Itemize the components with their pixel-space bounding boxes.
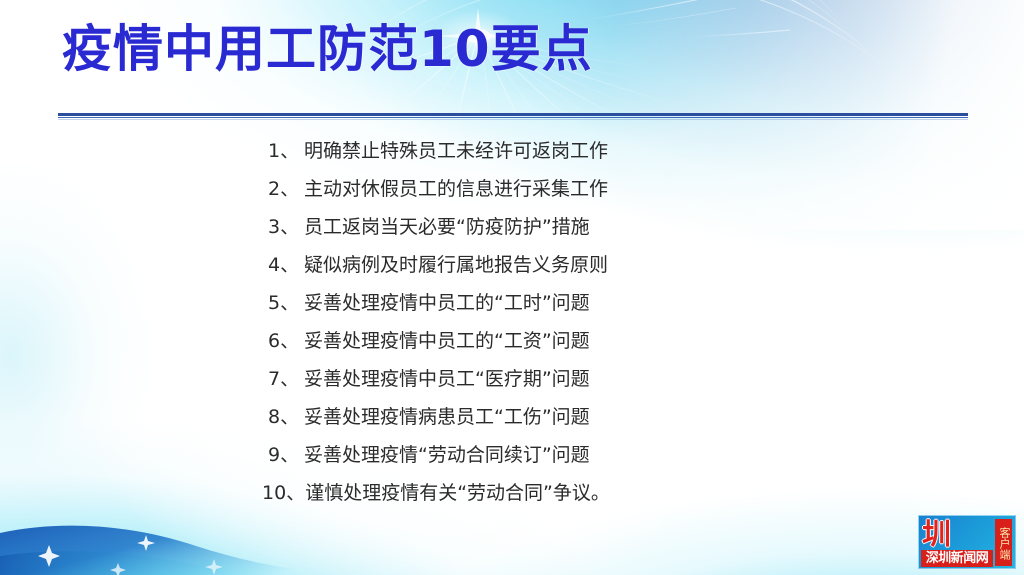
list-item: 5、 妥善处理疫情中员工的“工时”问题: [268, 288, 738, 326]
list-item-text: 妥善处理疫情“劳动合同续订”问题: [304, 440, 590, 467]
list-item-number: 3、: [268, 212, 304, 239]
list-item-number: 7、: [268, 364, 304, 391]
slide-canvas: 疫情中用工防范10要点 1、 明确禁止特殊员工未经许可返岗工作 2、 主动对休假…: [0, 0, 1024, 575]
list-item-text: 妥善处理疫情中员工的“工时”问题: [304, 288, 590, 315]
list-item-text: 妥善处理疫情中员工的“工资”问题: [304, 326, 590, 353]
title-divider: [58, 113, 968, 120]
list-item: 8、 妥善处理疫情病患员工“工伤”问题: [268, 402, 738, 440]
title-block: 疫情中用工防范10要点: [62, 22, 762, 77]
logo-side-label: 客户端: [995, 519, 1012, 566]
points-list: 1、 明确禁止特殊员工未经许可返岗工作 2、 主动对休假员工的信息进行采集工作 …: [268, 136, 738, 516]
divider-line-thin: [58, 117, 968, 118]
list-item-number: 1、: [268, 136, 304, 163]
logo-subtitle: 深圳新闻网: [921, 550, 993, 567]
list-item: 4、 疑似病例及时履行属地报告义务原则: [268, 250, 738, 288]
list-item: 3、 员工返岗当天必要“防疫防护”措施: [268, 212, 738, 250]
list-item-number: 2、: [268, 174, 304, 201]
list-item-number: 8、: [268, 402, 304, 429]
list-item-text: 明确禁止特殊员工未经许可返岗工作: [304, 136, 608, 163]
list-item-number: 6、: [268, 326, 304, 353]
list-item-text: 妥善处理疫情病患员工“工伤”问题: [304, 402, 590, 429]
list-item: 2、 主动对休假员工的信息进行采集工作: [268, 174, 738, 212]
list-item: 1、 明确禁止特殊员工未经许可返岗工作: [268, 136, 738, 174]
list-item-text: 员工返岗当天必要“防疫防护”措施: [304, 212, 590, 239]
list-item-number: 10、: [262, 478, 305, 505]
list-item-number: 5、: [268, 288, 304, 315]
list-item: 9、 妥善处理疫情“劳动合同续订”问题: [268, 440, 738, 478]
divider-line-faint: [58, 119, 968, 120]
page-title: 疫情中用工防范10要点: [62, 22, 762, 77]
list-item-number: 4、: [268, 250, 304, 277]
list-item-text: 谨慎处理疫情有关“劳动合同”争议。: [305, 478, 610, 505]
list-item: 7、 妥善处理疫情中员工“医疗期”问题: [268, 364, 738, 402]
divider-line-thick: [58, 113, 968, 116]
list-item-text: 疑似病例及时履行属地报告义务原则: [304, 250, 608, 277]
list-item: 6、 妥善处理疫情中员工的“工资”问题: [268, 326, 738, 364]
list-item-text: 主动对休假员工的信息进行采集工作: [304, 174, 608, 201]
list-item-number: 9、: [268, 440, 304, 467]
list-item: 10、 谨慎处理疫情有关“劳动合同”争议。: [268, 478, 738, 516]
logo-mark-text: 圳: [922, 518, 992, 551]
list-item-text: 妥善处理疫情中员工“医疗期”问题: [304, 364, 590, 391]
watermark-logo: 圳 深圳新闻网 客户端: [918, 515, 1016, 569]
